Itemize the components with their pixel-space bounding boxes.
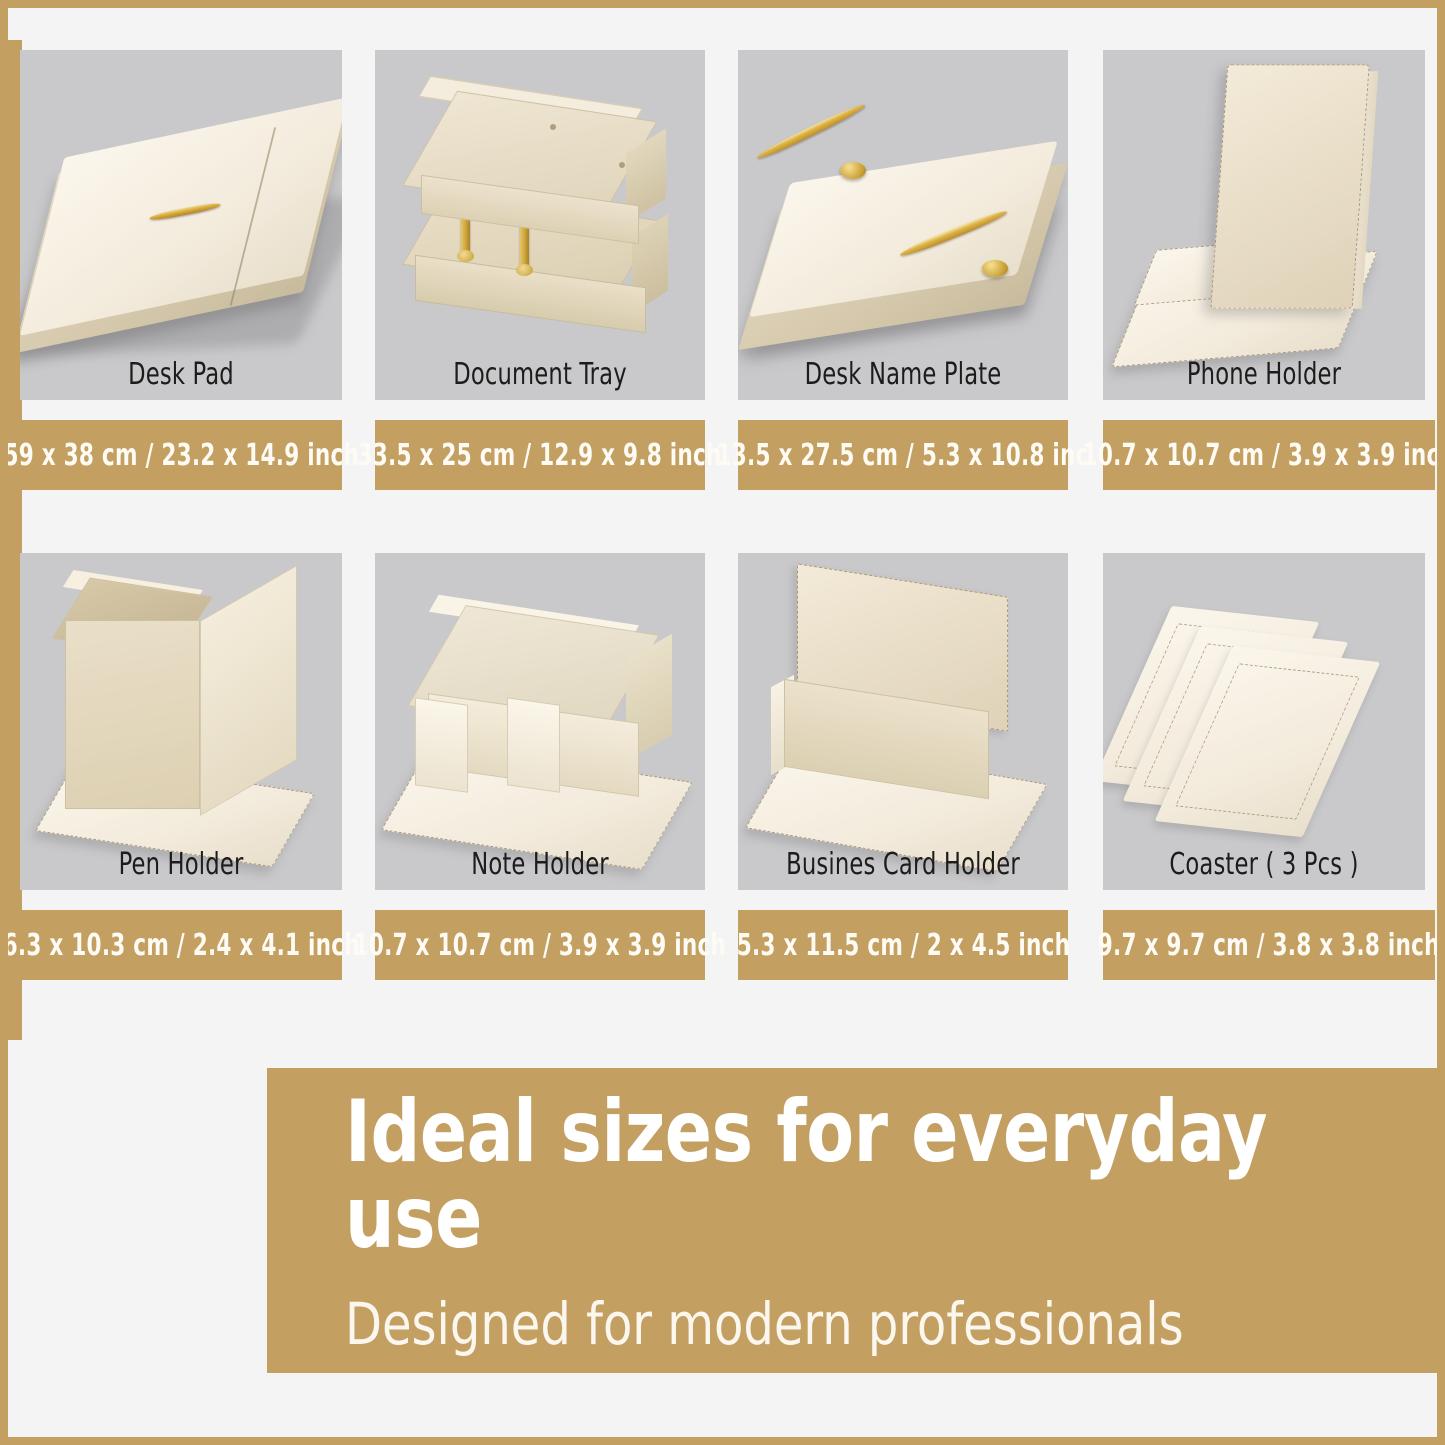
product-photo-phone-holder: Phone Holder	[1103, 50, 1425, 400]
product-size-bar-business-card-holder: 5.3 x 11.5 cm / 2 x 4.5 inch	[738, 910, 1068, 980]
product-cell-coaster[interactable]: Coaster ( 3 Pcs ) 9.7 x 9.7 cm / 3.8 x 3…	[1103, 553, 1435, 990]
pen-holder-illustration	[20, 553, 342, 890]
product-label: Note Holder	[401, 847, 678, 882]
product-size-text: 59 x 38 cm / 23.2 x 14.9 inch	[3, 438, 359, 473]
product-grid: Desk Pad 59 x 38 cm / 23.2 x 14.9 inch D…	[0, 0, 1445, 1040]
product-label: Busines Card Holder	[764, 847, 1041, 882]
product-size-bar-phone-holder: 10.7 x 10.7 cm / 3.9 x 3.9 inch	[1103, 420, 1435, 490]
banner-headline: Ideal sizes for everyday use	[345, 1089, 1328, 1261]
note-holder-illustration	[375, 553, 705, 890]
product-size-bar-desk-pad: 59 x 38 cm / 23.2 x 14.9 inch	[20, 420, 342, 490]
product-cell-desk-name-plate[interactable]: Desk Name Plate 13.5 x 27.5 cm / 5.3 x 1…	[738, 50, 1068, 490]
product-photo-business-card-holder: Busines Card Holder	[738, 553, 1068, 890]
banner-subheadline: Designed for modern professionals	[345, 1295, 1350, 1353]
desk-name-plate-illustration	[738, 50, 1068, 400]
product-cell-document-tray[interactable]: Document Tray 33.5 x 25 cm / 12.9 x 9.8 …	[375, 50, 705, 490]
product-photo-pen-holder: Pen Holder	[20, 553, 342, 890]
product-photo-desk-name-plate: Desk Name Plate	[738, 50, 1068, 400]
product-size-text: 10.7 x 10.7 cm / 3.9 x 3.9 inch	[354, 928, 727, 963]
product-label: Phone Holder	[1129, 357, 1399, 392]
product-size-text: 33.5 x 25 cm / 12.9 x 9.8 inch	[358, 438, 722, 473]
product-size-text: 6.3 x 10.3 cm / 2.4 x 4.1 inch	[2, 928, 359, 963]
product-size-bar-note-holder: 10.7 x 10.7 cm / 3.9 x 3.9 inch	[375, 910, 705, 980]
product-cell-note-holder[interactable]: Note Holder 10.7 x 10.7 cm / 3.9 x 3.9 i…	[375, 553, 705, 990]
product-label: Desk Name Plate	[764, 357, 1041, 392]
product-size-bar-desk-name-plate: 13.5 x 27.5 cm / 5.3 x 10.8 inc	[738, 420, 1068, 490]
product-size-text: 10.7 x 10.7 cm / 3.9 x 3.9 inch	[1083, 438, 1445, 473]
product-cell-desk-pad[interactable]: Desk Pad 59 x 38 cm / 23.2 x 14.9 inch	[20, 50, 342, 490]
product-cell-pen-holder[interactable]: Pen Holder 6.3 x 10.3 cm / 2.4 x 4.1 inc…	[20, 553, 342, 990]
product-photo-desk-pad: Desk Pad	[20, 50, 342, 400]
desk-pad-illustration	[20, 50, 342, 400]
product-label: Document Tray	[401, 357, 678, 392]
product-size-text: 9.7 x 9.7 cm / 3.8 x 3.8 inch	[1098, 928, 1440, 963]
business-card-holder-illustration	[738, 553, 1068, 890]
product-label: Coaster ( 3 Pcs )	[1129, 847, 1399, 882]
product-size-text: 5.3 x 11.5 cm / 2 x 4.5 inch	[736, 928, 1070, 963]
product-cell-phone-holder[interactable]: Phone Holder 10.7 x 10.7 cm / 3.9 x 3.9 …	[1103, 50, 1435, 490]
product-size-bar-document-tray: 33.5 x 25 cm / 12.9 x 9.8 inch	[375, 420, 705, 490]
document-tray-illustration	[375, 50, 705, 400]
product-size-bar-pen-holder: 6.3 x 10.3 cm / 2.4 x 4.1 inch	[20, 910, 342, 980]
coaster-illustration	[1103, 553, 1425, 890]
bottom-banner: Ideal sizes for everyday use Designed fo…	[267, 1068, 1437, 1373]
product-cell-business-card-holder[interactable]: Busines Card Holder 5.3 x 11.5 cm / 2 x …	[738, 553, 1068, 990]
product-label: Pen Holder	[46, 847, 316, 882]
product-photo-document-tray: Document Tray	[375, 50, 705, 400]
product-photo-note-holder: Note Holder	[375, 553, 705, 890]
product-photo-coaster: Coaster ( 3 Pcs )	[1103, 553, 1425, 890]
product-label: Desk Pad	[46, 357, 316, 392]
product-size-bar-coaster: 9.7 x 9.7 cm / 3.8 x 3.8 inch	[1103, 910, 1435, 980]
phone-holder-illustration	[1103, 50, 1425, 400]
product-size-text: 13.5 x 27.5 cm / 5.3 x 10.8 inc	[717, 438, 1089, 473]
